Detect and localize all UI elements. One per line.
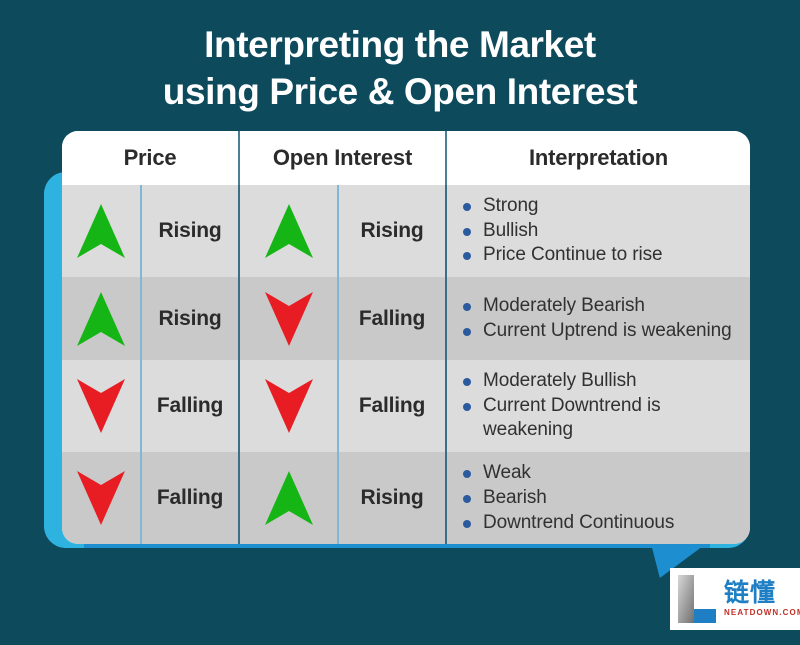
price-open-interest-table: Price Open Interest Interpretation Risin… <box>62 131 750 544</box>
open-interest-trend-label-cell: Rising <box>337 452 445 544</box>
interpretation-bullet: Moderately Bullish <box>461 369 740 394</box>
interpretation-bullet: Current Downtrend is weakening <box>461 394 740 443</box>
interpretation-list: StrongBullishPrice Continue to rise <box>461 194 740 268</box>
table-row: RisingRisingStrongBullishPrice Continue … <box>62 185 750 277</box>
open-interest-trend-label: Falling <box>359 394 425 418</box>
open-interest-trend-icon-cell <box>238 185 337 277</box>
interpretation-list: Moderately BearishCurrent Uptrend is wea… <box>461 294 740 343</box>
logo-brand-chinese: 链懂 <box>724 581 800 606</box>
table-row: FallingFallingModerately BullishCurrent … <box>62 360 750 452</box>
interpretation-list: Moderately BullishCurrent Downtrend is w… <box>461 369 740 443</box>
open-interest-trend-label-cell: Falling <box>337 360 445 452</box>
page-title-line-1: Interpreting the Market <box>0 22 800 69</box>
price-trend-icon-cell <box>62 277 140 360</box>
open-interest-trend-label-cell: Rising <box>337 185 445 277</box>
interpretation-cell: WeakBearishDowntrend Continuous <box>445 452 748 544</box>
open-interest-trend-icon-cell <box>238 277 337 360</box>
interpretation-bullet: Moderately Bearish <box>461 294 740 319</box>
interpretation-cell: Moderately BullishCurrent Downtrend is w… <box>445 360 748 452</box>
interpretation-bullet: Bullish <box>461 219 740 244</box>
column-header-open-interest: Open Interest <box>238 131 445 185</box>
down-arrow-icon <box>263 377 315 435</box>
price-trend-label-cell: Rising <box>140 277 238 360</box>
up-arrow-icon <box>75 290 127 348</box>
price-trend-label-cell: Rising <box>140 185 238 277</box>
price-trend-label-cell: Falling <box>140 360 238 452</box>
price-trend-label: Rising <box>159 307 222 331</box>
table-row: RisingFallingModerately BearishCurrent U… <box>62 277 750 360</box>
letter-l-logo-icon <box>674 573 720 625</box>
price-trend-label: Falling <box>157 394 223 418</box>
logo-domain: NEATDOWN.COM <box>724 609 800 617</box>
logo-text-block: 链懂 NEATDOWN.COM <box>724 581 800 617</box>
down-arrow-icon <box>75 469 127 527</box>
open-interest-trend-icon-cell <box>238 452 337 544</box>
open-interest-trend-label: Rising <box>361 486 424 510</box>
down-arrow-icon <box>263 290 315 348</box>
price-trend-icon-cell <box>62 185 140 277</box>
interpretation-bullet: Strong <box>461 194 740 219</box>
page-title-line-2: using Price & Open Interest <box>0 69 800 116</box>
table-row: FallingRisingWeakBearishDowntrend Contin… <box>62 452 750 544</box>
open-interest-trend-label: Rising <box>361 219 424 243</box>
page-title: Interpreting the Market using Price & Op… <box>0 22 800 115</box>
up-arrow-icon <box>75 202 127 260</box>
interpretation-bullet: Bearish <box>461 486 740 511</box>
price-trend-icon-cell <box>62 360 140 452</box>
price-trend-label-cell: Falling <box>140 452 238 544</box>
price-trend-label: Rising <box>159 219 222 243</box>
interpretation-bullet: Current Uptrend is weakening <box>461 319 740 344</box>
brand-logo: 链懂 NEATDOWN.COM <box>670 568 800 630</box>
down-arrow-icon <box>75 377 127 435</box>
price-trend-icon-cell <box>62 452 140 544</box>
interpretation-list: WeakBearishDowntrend Continuous <box>461 461 740 535</box>
interpretation-bullet: Price Continue to rise <box>461 243 740 268</box>
table-header-row: Price Open Interest Interpretation <box>62 131 750 185</box>
interpretation-cell: Moderately BearishCurrent Uptrend is wea… <box>445 277 748 360</box>
up-arrow-icon <box>263 202 315 260</box>
price-trend-label: Falling <box>157 486 223 510</box>
column-header-interpretation: Interpretation <box>445 131 750 185</box>
up-arrow-icon <box>263 469 315 527</box>
open-interest-trend-icon-cell <box>238 360 337 452</box>
table-body: RisingRisingStrongBullishPrice Continue … <box>62 185 750 544</box>
column-header-price: Price <box>62 131 238 185</box>
interpretation-bullet: Weak <box>461 461 740 486</box>
interpretation-cell: StrongBullishPrice Continue to rise <box>445 185 748 277</box>
open-interest-trend-label-cell: Falling <box>337 277 445 360</box>
open-interest-trend-label: Falling <box>359 307 425 331</box>
interpretation-bullet: Downtrend Continuous <box>461 511 740 536</box>
